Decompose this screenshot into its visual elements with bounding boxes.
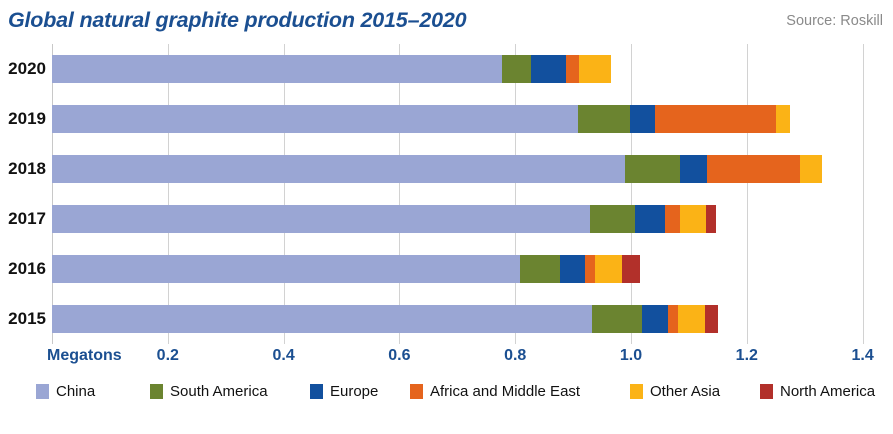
stacked-bar	[52, 55, 611, 83]
bar-segment-other-asia	[678, 305, 705, 333]
legend-label: Europe	[330, 383, 378, 400]
legend-label: China	[56, 383, 95, 400]
bar-segment-north-america	[622, 255, 640, 283]
page-title: Global natural graphite production 2015–…	[8, 8, 466, 33]
legend-label: South America	[170, 383, 268, 400]
chart-root: Global natural graphite production 2015–…	[0, 0, 893, 434]
bar-segment-other-asia	[579, 55, 611, 83]
legend-item[interactable]: North America	[760, 380, 875, 402]
stacked-bar	[52, 155, 822, 183]
legend-swatch-icon	[760, 384, 773, 399]
stacked-bar	[52, 255, 640, 283]
bar-segment-south-america	[625, 155, 680, 183]
legend-swatch-icon	[36, 384, 49, 399]
x-tick-label: 0.4	[272, 347, 294, 365]
y-axis-label: 2015	[0, 294, 46, 344]
source-note: Source: Roskill	[786, 13, 883, 29]
legend-label: Other Asia	[650, 383, 720, 400]
legend-swatch-icon	[150, 384, 163, 399]
y-axis-label: 2019	[0, 94, 46, 144]
bar-row: 2018	[0, 144, 893, 194]
legend-label: North America	[780, 383, 875, 400]
axis-unit-label: Megatons	[47, 347, 122, 365]
bar-segment-south-america	[592, 305, 642, 333]
bar-segment-china	[52, 205, 590, 233]
x-axis: Megatons 0.20.40.60.81.01.21.4	[0, 344, 893, 374]
bar-segment-china	[52, 55, 502, 83]
chart-header: Global natural graphite production 2015–…	[0, 0, 893, 44]
bar-segment-africa-and-middle-east	[655, 105, 777, 133]
bar-row: 2017	[0, 194, 893, 244]
stacked-bar	[52, 105, 790, 133]
x-tick-label: 0.6	[388, 347, 410, 365]
y-axis-label: 2016	[0, 244, 46, 294]
stacked-bar	[52, 305, 718, 333]
y-axis-label: 2018	[0, 144, 46, 194]
legend-item[interactable]: Africa and Middle East	[410, 380, 580, 402]
bar-segment-north-america	[705, 305, 718, 333]
legend-item[interactable]: Europe	[310, 380, 378, 402]
bar-segment-other-asia	[680, 205, 706, 233]
x-tick-label: 1.0	[620, 347, 642, 365]
bar-segment-south-america	[502, 55, 531, 83]
legend-swatch-icon	[310, 384, 323, 399]
bar-segment-europe	[531, 55, 566, 83]
bar-segment-europe	[642, 305, 668, 333]
bar-segment-africa-and-middle-east	[668, 305, 678, 333]
bar-segment-south-america	[578, 105, 630, 133]
bar-segment-other-asia	[595, 255, 622, 283]
x-tick-label: 1.2	[736, 347, 758, 365]
y-axis-label: 2017	[0, 194, 46, 244]
legend-item[interactable]: China	[36, 380, 95, 402]
legend-item[interactable]: Other Asia	[630, 380, 720, 402]
bar-segment-europe	[680, 155, 707, 183]
bar-segment-china	[52, 155, 625, 183]
bar-segment-africa-and-middle-east	[566, 55, 579, 83]
y-axis-label: 2020	[0, 44, 46, 94]
bar-segment-europe	[635, 205, 665, 233]
bar-segment-china	[52, 105, 578, 133]
bar-row: 2015	[0, 294, 893, 344]
bar-segment-africa-and-middle-east	[707, 155, 800, 183]
legend-item[interactable]: South America	[150, 380, 268, 402]
x-tick-label: 1.4	[851, 347, 873, 365]
bar-segment-south-america	[520, 255, 560, 283]
bar-segment-south-america	[590, 205, 635, 233]
bar-row: 2016	[0, 244, 893, 294]
bar-segment-other-asia	[800, 155, 822, 183]
bar-row: 2019	[0, 94, 893, 144]
x-tick-label: 0.2	[157, 347, 179, 365]
bar-segment-africa-and-middle-east	[585, 255, 595, 283]
bar-row: 2020	[0, 44, 893, 94]
bar-segment-other-asia	[776, 105, 790, 133]
bar-segment-china	[52, 305, 592, 333]
x-tick-label: 0.8	[504, 347, 526, 365]
bar-segment-china	[52, 255, 520, 283]
legend-swatch-icon	[630, 384, 643, 399]
plot-area: 202020192018201720162015	[0, 44, 893, 344]
stacked-bar	[52, 205, 716, 233]
bar-segment-africa-and-middle-east	[665, 205, 680, 233]
bar-segment-europe	[630, 105, 655, 133]
legend-label: Africa and Middle East	[430, 383, 580, 400]
legend-swatch-icon	[410, 384, 423, 399]
bar-segment-north-america	[706, 205, 716, 233]
bar-segment-europe	[560, 255, 585, 283]
legend: ChinaSouth AmericaEuropeAfrica and Middl…	[0, 380, 893, 406]
